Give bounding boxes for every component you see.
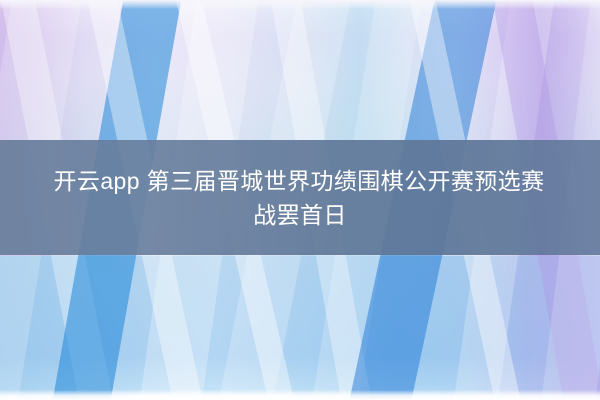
top-highlight-strip <box>0 0 600 9</box>
caption-bar: 开云app 第三届晋城世界功绩围棋公开赛预选赛 战罢首日 <box>0 140 600 255</box>
caption-line-2: 战罢首日 <box>253 198 347 232</box>
promo-banner: 开云app 第三届晋城世界功绩围棋公开赛预选赛 战罢首日 <box>0 0 600 400</box>
background-tint-bottom <box>0 256 600 400</box>
bottom-highlight-strip <box>0 390 600 400</box>
caption-line-1: 开云app 第三届晋城世界功绩围棋公开赛预选赛 <box>54 164 545 198</box>
background-wash-bottom <box>0 256 600 400</box>
